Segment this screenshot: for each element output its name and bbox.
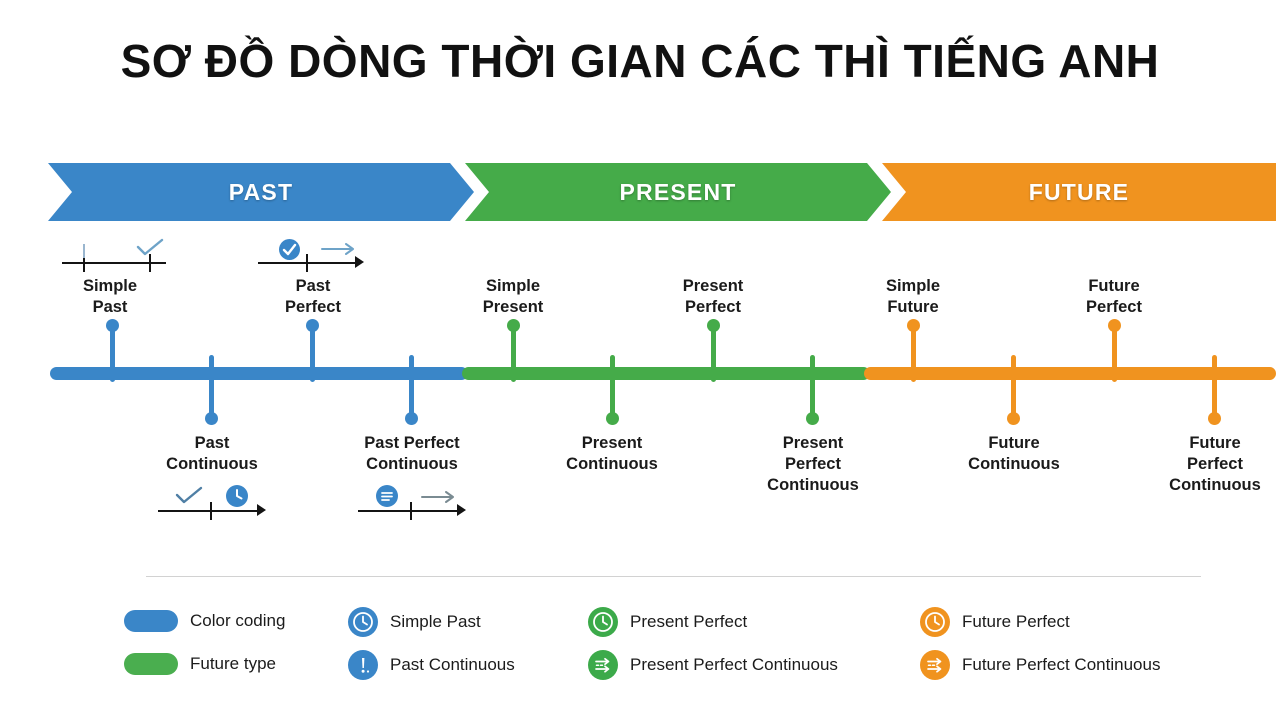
legend-label: Future Perfect Continuous (962, 655, 1160, 675)
clock-icon (588, 607, 618, 637)
legend-label: Future type (190, 654, 276, 674)
label-future-perfect-continuous: Future Perfect Continuous (1140, 433, 1280, 496)
timeline-infographic: SƠ ĐỒ DÒNG THỜI GIAN CÁC THÌ TIẾNG ANH P… (0, 0, 1280, 714)
label-line: Present (582, 434, 643, 452)
marker-simple-present[interactable] (511, 322, 516, 382)
label-line: Perfect (1086, 298, 1142, 316)
mini-diagram-past-perfect-continuous (358, 482, 473, 522)
label-line: Present (783, 434, 844, 452)
legend-item-future-type[interactable]: Future type (124, 653, 276, 675)
label-line: Present (683, 277, 744, 295)
label-line: Continuous (767, 476, 859, 494)
mini-axis-line (158, 510, 258, 512)
label-line: Past (195, 434, 230, 452)
marker-simple-future[interactable] (911, 322, 916, 382)
legend-item-future-perfect[interactable]: Future Perfect (920, 607, 1070, 637)
mini-tick (210, 502, 212, 520)
check-mark-icon (136, 238, 164, 258)
label-line: Continuous (1169, 476, 1261, 494)
check-circle-icon (279, 239, 300, 260)
marker-past-perfect-continuous[interactable] (409, 355, 414, 421)
label-line: Future (1189, 434, 1240, 452)
marker-future-perfect-continuous[interactable] (1212, 355, 1217, 421)
legend-item-color-coding[interactable]: Color coding (124, 610, 285, 632)
mini-diagram-past-continuous (158, 482, 273, 522)
pill-swatch-icon (124, 653, 178, 675)
marker-present-perfect[interactable] (711, 322, 716, 382)
legend-item-past-continuous[interactable]: Past Continuous (348, 650, 515, 680)
mini-arrowhead (257, 504, 266, 516)
label-past-continuous: Past Continuous (137, 433, 287, 475)
label-line: Future (988, 434, 1039, 452)
clock-icon (226, 485, 248, 507)
mini-axis-line (358, 510, 458, 512)
label-past-perfect-continuous: Past Perfect Continuous (337, 433, 487, 475)
legend-label: Future Perfect (962, 612, 1070, 632)
mini-tick (410, 502, 412, 520)
legend-divider (146, 576, 1201, 577)
label-present-perfect: Present Perfect (638, 276, 788, 318)
legend-label: Present Perfect Continuous (630, 655, 838, 675)
label-line: Simple (486, 277, 540, 295)
marker-simple-past[interactable] (110, 322, 115, 382)
tick-mark-icon (83, 244, 85, 258)
lines-circle-icon (376, 485, 398, 507)
right-arrow-icon (420, 489, 460, 510)
label-line: Continuous (166, 455, 258, 473)
label-line: Continuous (566, 455, 658, 473)
marker-future-continuous[interactable] (1011, 355, 1016, 421)
label-line: Future (1088, 277, 1139, 295)
legend-item-present-perfect-continuous[interactable]: Present Perfect Continuous (588, 650, 838, 680)
label-line: Continuous (366, 455, 458, 473)
legend-label: Present Perfect (630, 612, 747, 632)
pill-swatch-icon (124, 610, 178, 632)
marker-present-continuous[interactable] (610, 355, 615, 421)
marker-past-perfect[interactable] (310, 322, 315, 382)
label-line: Past (296, 277, 331, 295)
right-arrow-icon (320, 241, 360, 262)
label-line: Past (93, 298, 128, 316)
label-line: Simple (886, 277, 940, 295)
clock-icon (920, 607, 950, 637)
marker-present-perfect-continuous[interactable] (810, 355, 815, 421)
legend-label: Simple Past (390, 612, 481, 632)
mini-tick (306, 254, 308, 272)
legend-item-future-perfect-continuous[interactable]: Future Perfect Continuous (920, 650, 1160, 680)
label-line: Future (887, 298, 938, 316)
label-line: Perfect (785, 455, 841, 473)
label-line: Present (483, 298, 544, 316)
clock-icon (348, 607, 378, 637)
label-line: Past Perfect (364, 434, 459, 452)
label-line: Perfect (1187, 455, 1243, 473)
arrows-icon (588, 650, 618, 680)
arrows-icon (920, 650, 950, 680)
mini-diagram-simple-past (62, 234, 166, 274)
label-present-perfect-continuous: Present Perfect Continuous (738, 433, 888, 496)
label-line: Continuous (968, 455, 1060, 473)
label-simple-future: Simple Future (838, 276, 988, 318)
marker-past-continuous[interactable] (209, 355, 214, 421)
exclamation-icon (348, 650, 378, 680)
check-mark-icon (175, 486, 203, 506)
label-past-perfect: Past Perfect (238, 276, 388, 318)
legend-label: Color coding (190, 611, 285, 631)
timeline-bar-present (462, 367, 870, 380)
legend-item-simple-past[interactable]: Simple Past (348, 607, 481, 637)
label-line: Perfect (685, 298, 741, 316)
label-present-continuous: Present Continuous (537, 433, 687, 475)
legend-label: Past Continuous (390, 655, 515, 675)
mini-diagram-past-perfect (258, 234, 368, 274)
legend-item-present-perfect[interactable]: Present Perfect (588, 607, 747, 637)
label-line: Simple (83, 277, 137, 295)
label-future-continuous: Future Continuous (939, 433, 1089, 475)
label-simple-present: Simple Present (438, 276, 588, 318)
marker-future-perfect[interactable] (1112, 322, 1117, 382)
label-line: Perfect (285, 298, 341, 316)
label-simple-past: Simple Past (35, 276, 185, 318)
label-future-perfect: Future Perfect (1039, 276, 1189, 318)
legend: Color coding Future type Simple Past (0, 598, 1280, 698)
